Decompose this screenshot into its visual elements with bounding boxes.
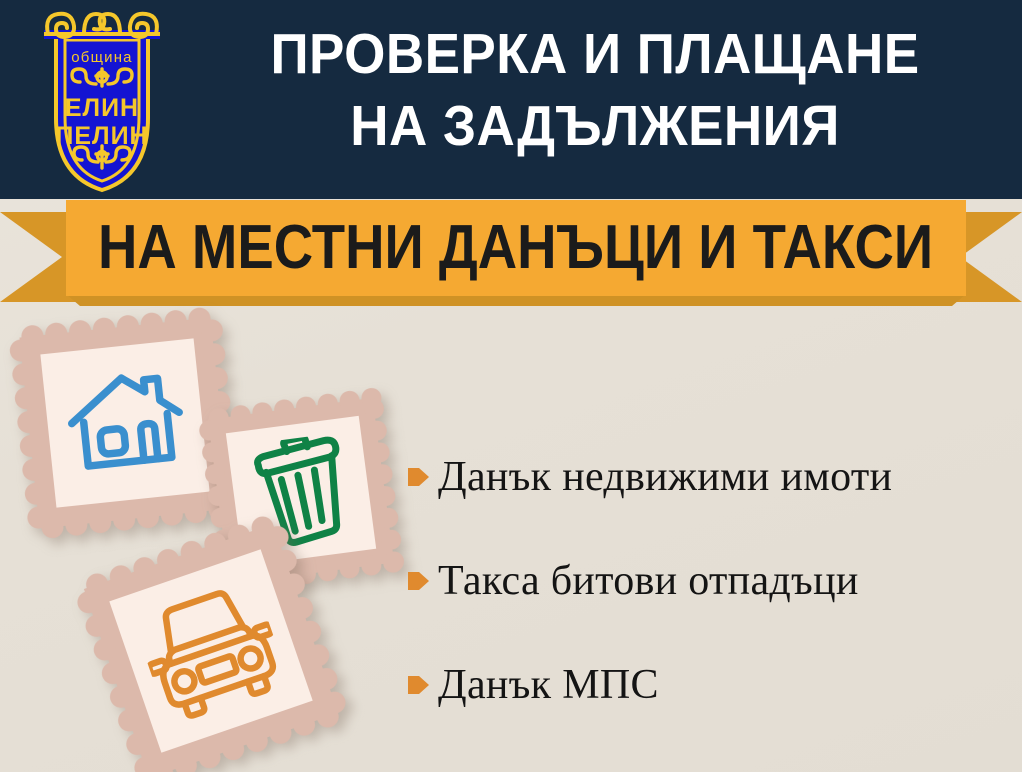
crest-label-top: община [71, 49, 132, 66]
house-icon [60, 356, 192, 488]
ribbon-banner: НА МЕСТНИ ДАНЪЦИ И ТАКСИ [66, 200, 966, 296]
crest-icon: община ЕЛИН ПЕЛИН [22, 6, 182, 194]
list-item[interactable]: Такса битови отпадъци [400, 529, 1015, 633]
title-line-2: НА ЗАДЪЛЖЕНИЯ [214, 90, 977, 162]
poster-canvas: община ЕЛИН ПЕЛИН [0, 0, 1022, 772]
crest-label-line1: ЕЛИН [65, 94, 139, 122]
list-item-label: Такса битови отпадъци [438, 557, 859, 605]
subtitle-ribbon: НА МЕСТНИ ДАНЪЦИ И ТАКСИ [0, 198, 1022, 308]
list-item[interactable]: Данък недвижими имоти [400, 425, 1015, 529]
title-line-1: ПРОВЕРКА И ПЛАЩАНЕ [270, 22, 919, 86]
header-bar: община ЕЛИН ПЕЛИН [0, 0, 1022, 199]
arrow-bullet-icon [400, 672, 438, 698]
list-item-label: Данък МПС [438, 661, 659, 709]
arrow-bullet-icon [400, 464, 438, 490]
list-item[interactable]: Данък МПС [400, 633, 1015, 737]
municipality-crest-logo: община ЕЛИН ПЕЛИН [22, 6, 182, 194]
tax-type-list: Данък недвижими имоти Такса битови отпад… [400, 425, 1015, 737]
ribbon-label: НА МЕСТНИ ДАНЪЦИ И ТАКСИ [98, 217, 933, 279]
page-title: ПРОВЕРКА И ПЛАЩАНЕ НА ЗАДЪЛЖЕНИЯ [214, 18, 977, 162]
arrow-bullet-icon [400, 568, 438, 594]
list-item-label: Данък недвижими имоти [438, 453, 892, 501]
